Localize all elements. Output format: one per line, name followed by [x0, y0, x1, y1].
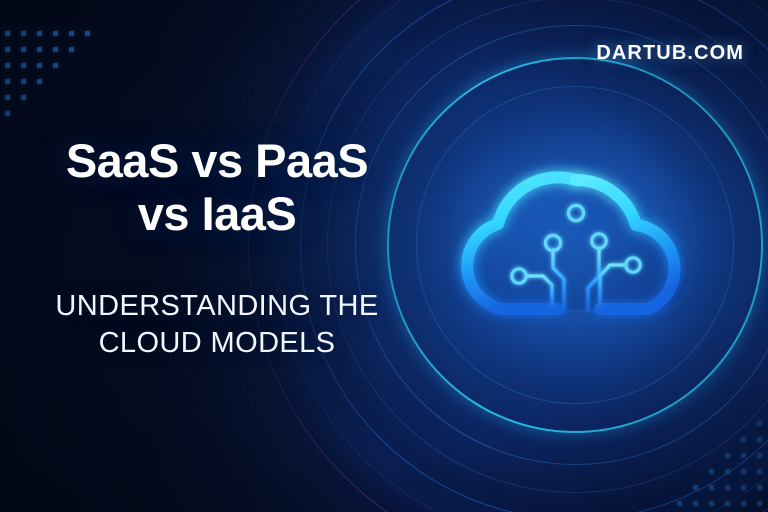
page-title-line-1: SaaS vs PaaS [12, 134, 422, 187]
page-subtitle-line-1: UNDERSTANDING THE [12, 288, 422, 325]
page-subtitle: UNDERSTANDING THE CLOUD MODELS [12, 288, 422, 362]
site-logo-text[interactable]: DARTUB.COM [596, 42, 744, 65]
vignette-overlay [0, 0, 768, 512]
page-title: SaaS vs PaaS vs IaaS [12, 134, 422, 240]
page-title-line-2: vs IaaS [12, 187, 422, 240]
poster-canvas: DARTUB.COM SaaS vs PaaS vs IaaS UNDERSTA… [0, 0, 768, 512]
page-subtitle-line-2: CLOUD MODELS [12, 325, 422, 362]
